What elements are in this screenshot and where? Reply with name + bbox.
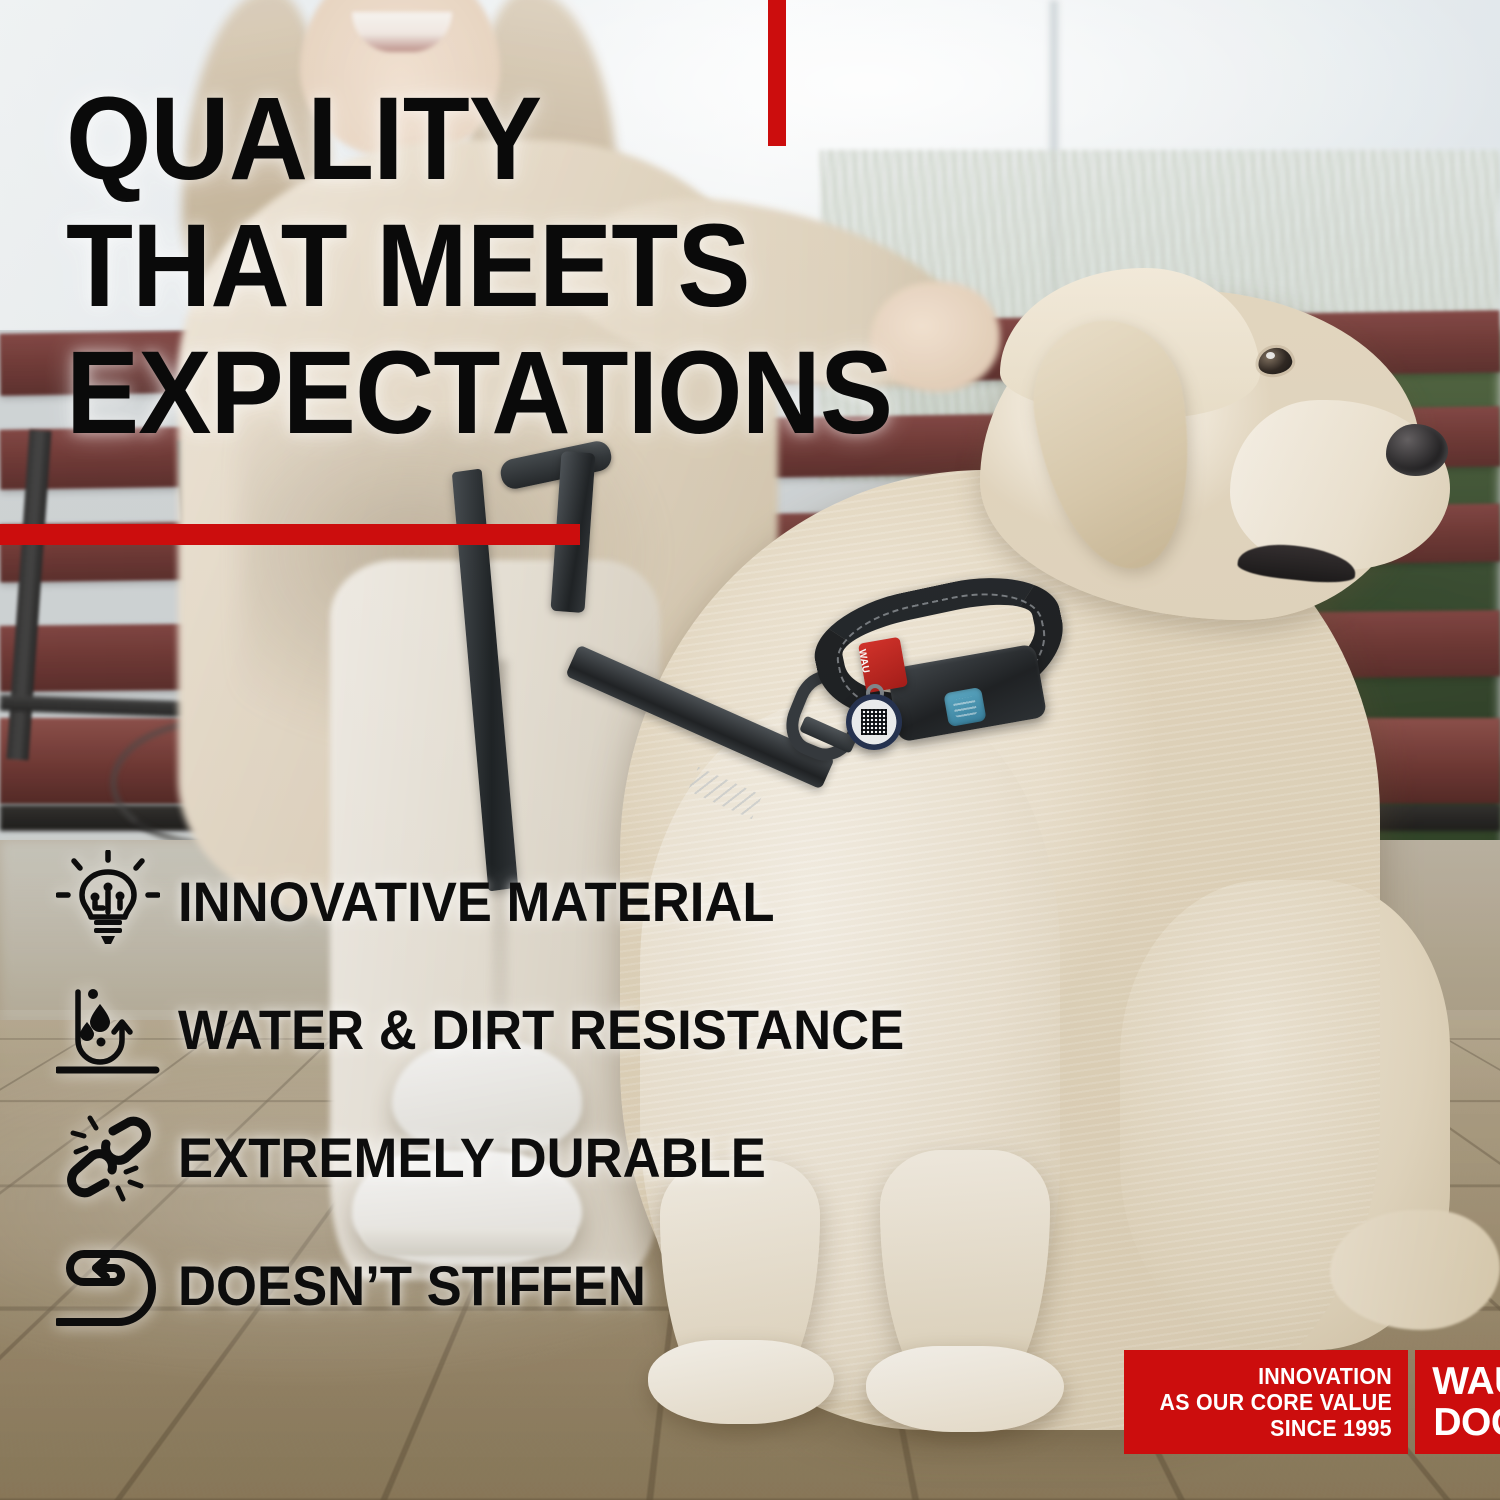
red-horizontal-accent-bar: [0, 524, 580, 545]
brand-claim-line-3: SINCE 1995: [1270, 1415, 1392, 1441]
feature-label: DOESN’T STIFFEN: [178, 1257, 646, 1315]
chain-link-strength-icon: [56, 1106, 178, 1210]
feature-list: INNOVATIVE MATERIAL WATER & DIRT RESISTA…: [56, 838, 951, 1350]
feature-item-extremely-durable: EXTREMELY DURABLE: [56, 1094, 951, 1222]
feature-label: EXTREMELY DURABLE: [178, 1129, 766, 1187]
dog-front-left-paw: [648, 1340, 834, 1424]
flexible-curl-arrow-icon: [56, 1234, 178, 1338]
headline-line-3: EXPECTATIONS: [66, 330, 940, 457]
headline: QUALITY THAT MEETS EXPECTATIONS: [66, 76, 1006, 457]
collar-brand-tag: WAU: [858, 637, 908, 694]
brand-claim-line-1: INNOVATION: [1258, 1363, 1392, 1389]
collar-buckle-release-button: [943, 687, 986, 727]
lightbulb-circuit-icon: [56, 850, 178, 954]
feature-item-water-dirt-resistance: WATER & DIRT RESISTANCE: [56, 966, 951, 1094]
feature-item-doesnt-stiffen: DOESN’T STIFFEN: [56, 1222, 951, 1350]
logo-line-1: WAU: [1432, 1361, 1500, 1402]
water-repellent-droplets-icon: [56, 978, 178, 1082]
feature-label: INNOVATIVE MATERIAL: [178, 873, 775, 931]
feature-item-innovative-material: INNOVATIVE MATERIAL: [56, 838, 951, 966]
brand-badge: INNOVATION AS OUR CORE VALUE SINCE 1995 …: [1124, 1350, 1500, 1454]
dog-front-right-paw: [866, 1346, 1064, 1432]
brand-claim-line-2: AS OUR CORE VALUE: [1160, 1389, 1393, 1415]
brand-claim-block: INNOVATION AS OUR CORE VALUE SINCE 1995: [1124, 1350, 1408, 1454]
headline-line-1: QUALITY: [66, 76, 940, 203]
dog-tail: [1330, 1210, 1500, 1330]
waudog-logo: WAU DOG: [1415, 1350, 1500, 1454]
feature-label: WATER & DIRT RESISTANCE: [178, 1001, 904, 1059]
qr-code-id-tag: [846, 694, 902, 750]
product-marketing-image: WAU QUALITY THAT MEETS EXPECTATIONS: [0, 0, 1500, 1500]
headline-line-2: THAT MEETS: [66, 203, 940, 330]
dog-eye-glint: [1266, 352, 1275, 359]
dog-nose: [1386, 424, 1448, 476]
logo-line-2: DOG: [1433, 1402, 1500, 1443]
